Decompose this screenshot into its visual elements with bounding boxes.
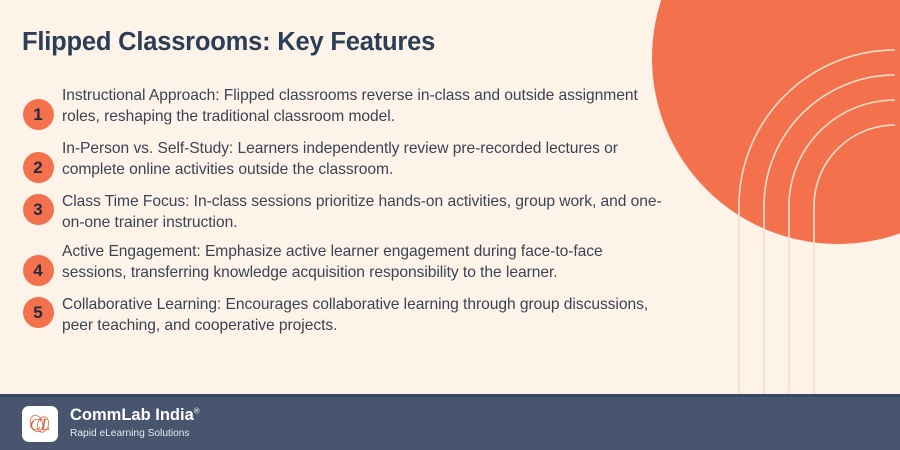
badge-container: 3 [14, 191, 62, 225]
badge-container: 4 [14, 241, 62, 286]
badge-container: 2 [14, 138, 62, 183]
feature-list: 1 Instructional Approach: Flipped classr… [14, 85, 662, 344]
brand-name-text: CommLab India [70, 406, 194, 424]
list-item: 1 Instructional Approach: Flipped classr… [14, 85, 662, 130]
decorative-circle-large [652, 0, 900, 244]
item-number-badge: 5 [23, 297, 54, 328]
item-number-badge: 3 [23, 194, 54, 225]
brand-name: CommLab India® [70, 407, 200, 424]
list-item: 3 Class Time Focus: In-class sessions pr… [14, 191, 662, 233]
footer-bar: CL CommLab India® Rapid eLearning Soluti… [0, 394, 900, 450]
list-item: 2 In-Person vs. Self-Study: Learners ind… [14, 138, 662, 183]
list-item: 5 Collaborative Learning: Encourages col… [14, 294, 662, 336]
commlab-logo-icon: CL [22, 406, 58, 442]
item-text: In-Person vs. Self-Study: Learners indep… [62, 138, 662, 180]
decorative-arc-rings [739, 50, 895, 450]
item-number-badge: 4 [23, 255, 54, 286]
badge-container: 5 [14, 294, 62, 328]
item-number-badge: 1 [23, 99, 54, 130]
item-text: Active Engagement: Emphasize active lear… [62, 241, 662, 283]
item-text: Instructional Approach: Flipped classroo… [62, 85, 662, 127]
cl-monogram-icon: CL [26, 410, 54, 438]
item-text: Collaborative Learning: Encourages colla… [62, 294, 662, 336]
list-item: 4 Active Engagement: Emphasize active le… [14, 241, 662, 286]
item-text: Class Time Focus: In-class sessions prio… [62, 191, 662, 233]
slide-canvas: Flipped Classrooms: Key Features 1 Instr… [0, 0, 900, 450]
badge-container: 1 [14, 85, 62, 130]
item-number-badge: 2 [23, 152, 54, 183]
brand-tagline: Rapid eLearning Solutions [70, 428, 200, 440]
registered-mark: ® [194, 407, 200, 416]
footer-brand-block: CommLab India® Rapid eLearning Solutions [70, 407, 200, 440]
page-title: Flipped Classrooms: Key Features [22, 28, 435, 57]
